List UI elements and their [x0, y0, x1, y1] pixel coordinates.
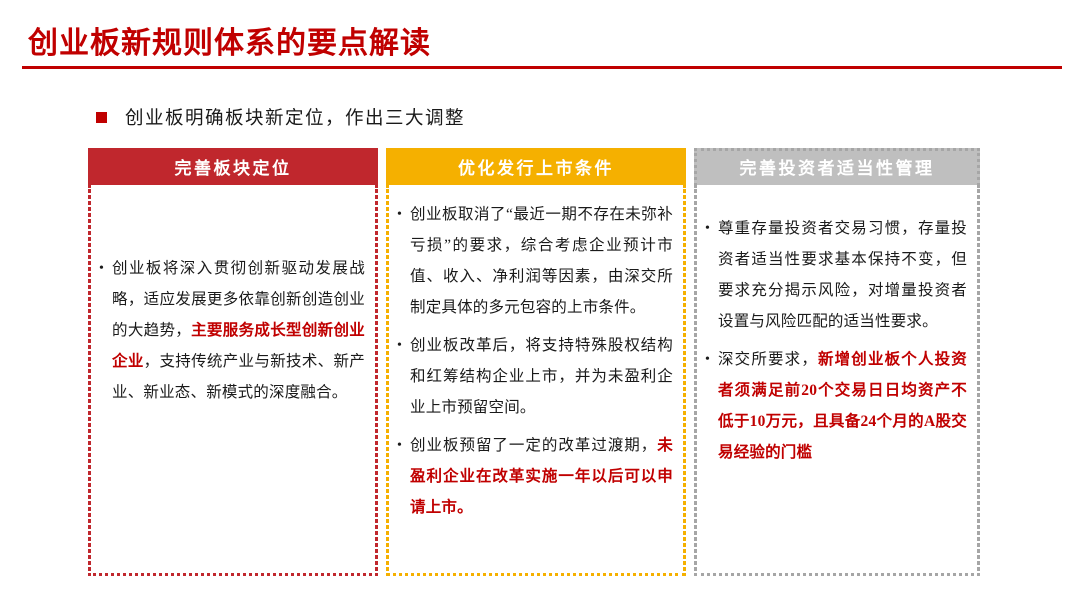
bullet-list-board-positioning: 创业板将深入贯彻创新驱动发展战略，适应发展更多依靠创新创造创业的大趋势，主要服务… [97, 253, 365, 408]
column-header-investor-suitability: 完善投资者适当性管理 [694, 148, 980, 185]
bullet-list-investor-suitability: 尊重存量投资者交易习惯，存量投资者适当性要求基本保持不变，但要求充分揭示风险，对… [703, 213, 967, 468]
bullet-text: 创业板预留了一定的改革过渡期， [410, 437, 657, 454]
bullet-item: 创业板改革后，将支持特殊股权结构和红筹结构企业上市，并为未盈利企业上市预留空间。 [395, 330, 673, 423]
title-divider [22, 66, 1062, 69]
column-investor-suitability[interactable]: 完善投资者适当性管理 尊重存量投资者交易习惯，存量投资者适当性要求基本保持不变，… [694, 148, 980, 576]
bullet-item: 深交所要求，新增创业板个人投资者须满足前20个交易日日均资产不低于10万元，且具… [703, 344, 967, 468]
subheading-label: 创业板明确板块新定位，作出三大调整 [125, 104, 465, 130]
column-body-board-positioning: 创业板将深入贯彻创新驱动发展战略，适应发展更多依靠创新创造创业的大趋势，主要服务… [88, 185, 378, 576]
bullet-list-listing-conditions: 创业板取消了“最近一期不存在未弥补亏损”的要求，综合考虑企业预计市值、收入、净利… [395, 199, 673, 523]
bullet-text: 深交所要求， [718, 351, 818, 368]
bullet-text: 尊重存量投资者交易习惯，存量投资者适当性要求基本保持不变，但要求充分揭示风险，对… [718, 220, 967, 330]
column-body-listing-conditions: 创业板取消了“最近一期不存在未弥补亏损”的要求，综合考虑企业预计市值、收入、净利… [386, 185, 686, 576]
square-bullet-icon [96, 112, 107, 123]
bullet-text: ，支持传统产业与新技术、新产业、新业态、新模式的深度融合。 [112, 353, 365, 401]
three-column-panel: 完善板块定位 创业板将深入贯彻创新驱动发展战略，适应发展更多依靠创新创造创业的大… [88, 148, 980, 576]
column-board-positioning[interactable]: 完善板块定位 创业板将深入贯彻创新驱动发展战略，适应发展更多依靠创新创造创业的大… [88, 148, 378, 576]
column-header-listing-conditions: 优化发行上市条件 [386, 148, 686, 185]
bullet-text: 创业板改革后，将支持特殊股权结构和红筹结构企业上市，并为未盈利企业上市预留空间。 [410, 337, 673, 416]
column-header-board-positioning: 完善板块定位 [88, 148, 378, 185]
column-body-investor-suitability: 尊重存量投资者交易习惯，存量投资者适当性要求基本保持不变，但要求充分揭示风险，对… [694, 185, 980, 576]
bullet-item: 创业板预留了一定的改革过渡期，未盈利企业在改革实施一年以后可以申请上市。 [395, 430, 673, 523]
bullet-item: 尊重存量投资者交易习惯，存量投资者适当性要求基本保持不变，但要求充分揭示风险，对… [703, 213, 967, 337]
column-listing-conditions[interactable]: 优化发行上市条件 创业板取消了“最近一期不存在未弥补亏损”的要求，综合考虑企业预… [386, 148, 686, 576]
bullet-text: 创业板取消了“最近一期不存在未弥补亏损”的要求，综合考虑企业预计市值、收入、净利… [410, 206, 673, 316]
subheading: 创业板明确板块新定位，作出三大调整 [96, 104, 465, 130]
page-title: 创业板新规则体系的要点解读 [28, 18, 431, 62]
bullet-item: 创业板将深入贯彻创新驱动发展战略，适应发展更多依靠创新创造创业的大趋势，主要服务… [97, 253, 365, 408]
bullet-item: 创业板取消了“最近一期不存在未弥补亏损”的要求，综合考虑企业预计市值、收入、净利… [395, 199, 673, 323]
